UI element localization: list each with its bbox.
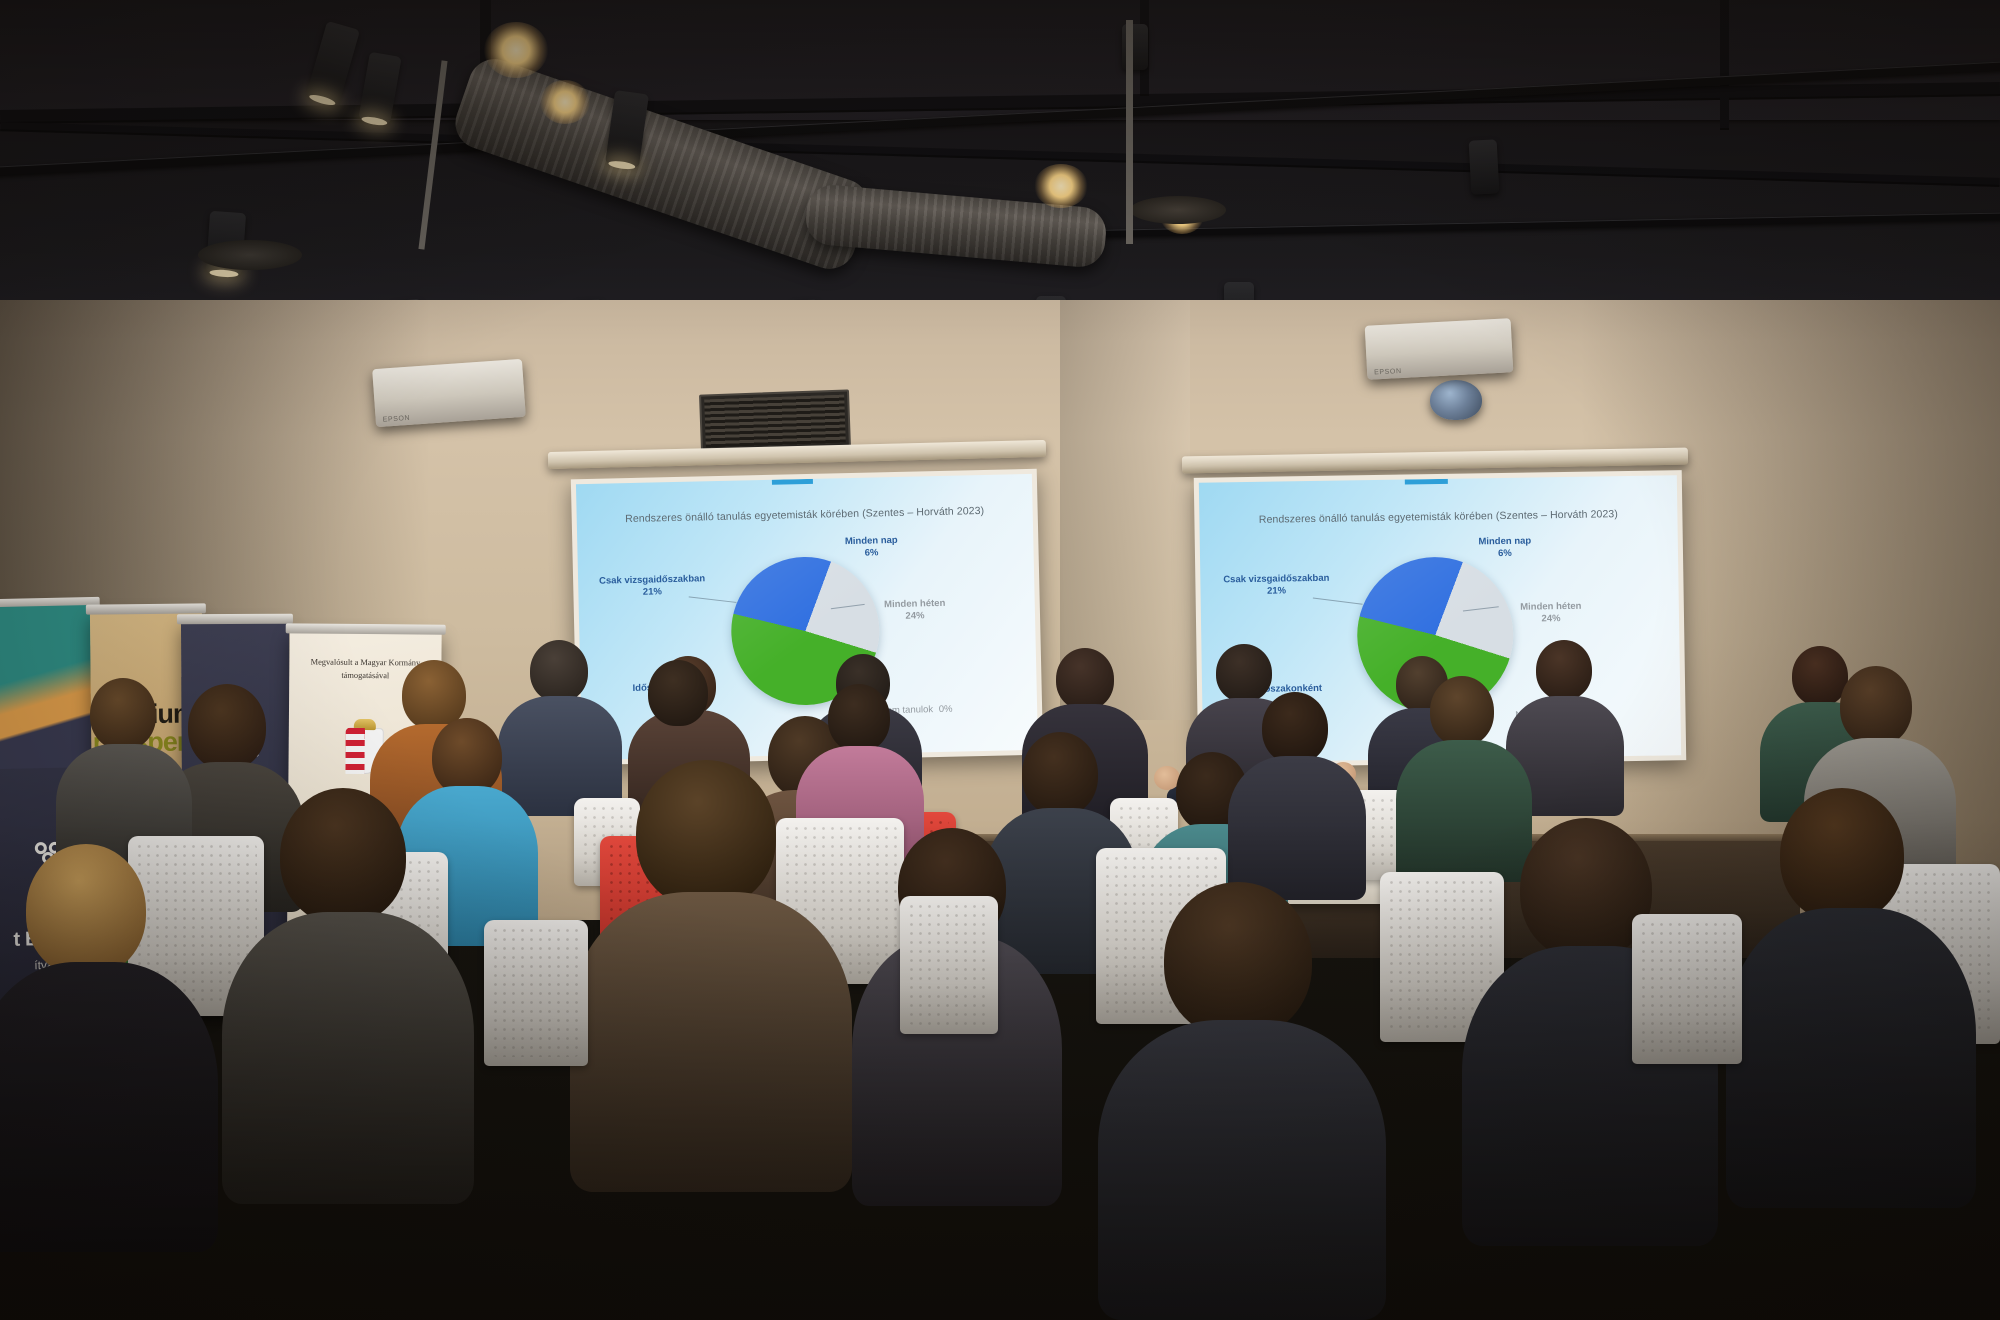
- chair[interactable]: [484, 920, 588, 1066]
- label-minden-nap: Minden nap 6%: [1462, 535, 1548, 560]
- audience-head: [636, 760, 776, 908]
- conference-room-photo: EPSON EPSON Rendszeres önálló tanulás eg…: [0, 0, 2000, 1320]
- audience-torso: [222, 912, 474, 1204]
- audience-head: [1022, 732, 1098, 816]
- audience: [0, 600, 2000, 1320]
- audience-head: [648, 660, 708, 726]
- audience-head: [26, 844, 146, 976]
- projector-mount-pole: [1126, 20, 1133, 244]
- chair[interactable]: [1632, 914, 1742, 1064]
- audience-head: [1840, 666, 1912, 746]
- audience-head: [1536, 640, 1592, 700]
- track-spotlight: [1469, 139, 1500, 194]
- slide-title: Rendszeres önálló tanulás egyetemisták k…: [1199, 507, 1677, 527]
- audience-head: [188, 684, 266, 770]
- ceiling-lamp: [484, 22, 548, 78]
- ceiling-diffuser: [1130, 196, 1226, 224]
- audience-head: [90, 678, 156, 750]
- audience-head: [1430, 676, 1494, 746]
- dome-camera: [1430, 380, 1482, 420]
- audience-head: [1056, 648, 1114, 710]
- projector-right: EPSON: [1365, 318, 1514, 380]
- ceiling-lamp: [1034, 164, 1088, 208]
- projector-brand-label: EPSON: [1374, 368, 1402, 376]
- label-pct: 6%: [1462, 547, 1548, 560]
- audience-head: [530, 640, 588, 702]
- ceiling-diffuser: [198, 240, 302, 270]
- audience-head: [432, 718, 502, 796]
- audience-head: [1216, 644, 1272, 702]
- audience-head: [1262, 692, 1328, 764]
- audience-torso: [1098, 1020, 1386, 1320]
- label-name: Csak vizsgaidőszakban: [599, 573, 705, 586]
- label-csak-vizsgaidoszakban: Csak vizsgaidőszakban 21%: [1218, 573, 1334, 598]
- air-vent-grille: [699, 389, 851, 452]
- label-name: Csak vizsgaidőszakban: [1223, 573, 1329, 586]
- slide-accent-bar: [1404, 479, 1447, 485]
- audience-head: [1792, 646, 1848, 706]
- label-name: Minden nap: [1478, 536, 1531, 548]
- audience-torso: [570, 892, 852, 1192]
- projector-left: EPSON: [372, 359, 526, 427]
- chair[interactable]: [900, 896, 998, 1034]
- label-minden-nap: Minden nap 6%: [829, 535, 914, 560]
- audience-torso: [1228, 756, 1366, 900]
- audience-head: [1780, 788, 1904, 922]
- audience-head: [280, 788, 406, 924]
- audience-torso: [0, 962, 218, 1252]
- label-pct: 21%: [1218, 584, 1334, 597]
- projector-brand-label: EPSON: [382, 415, 410, 424]
- label-csak-vizsgaidoszakban: Csak vizsgaidőszakban 21%: [596, 573, 708, 599]
- audience-head: [828, 684, 890, 752]
- audience-torso: [1396, 740, 1532, 882]
- audience-head: [1164, 882, 1312, 1038]
- label-name: Minden nap: [845, 535, 898, 547]
- slide-title: Rendszeres önálló tanulás egyetemisták k…: [577, 504, 1033, 526]
- slide-accent-bar: [772, 479, 813, 485]
- ceiling-lamp: [540, 80, 590, 124]
- label-pct: 6%: [829, 546, 913, 559]
- audience-torso: [1726, 908, 1976, 1208]
